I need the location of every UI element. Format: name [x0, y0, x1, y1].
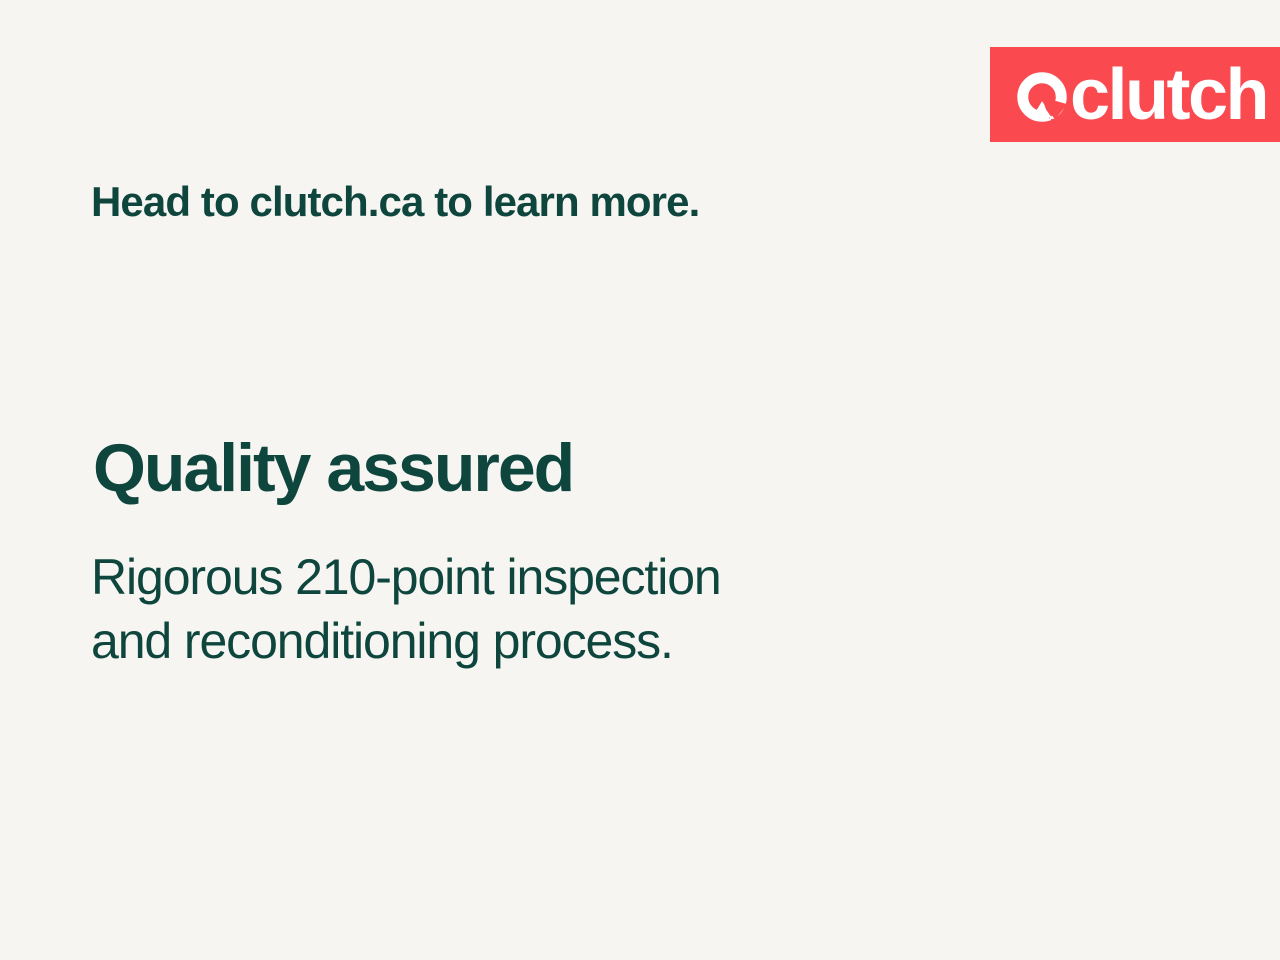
clutch-wordmark: clutch — [1016, 59, 1267, 131]
kicker-text: Head to clutch.ca to learn more. — [91, 178, 699, 227]
subcopy-line-1: Rigorous 210-point inspection — [91, 545, 721, 609]
slide-canvas: clutch Head to clutch.ca to learn more. … — [0, 0, 1280, 960]
clutch-logo-text: clutch — [1070, 59, 1267, 131]
page-headline: Quality assured — [93, 432, 573, 505]
clutch-logo-block[interactable]: clutch — [990, 47, 1280, 142]
subcopy-line-2: and reconditioning process. — [91, 609, 721, 673]
subcopy-text: Rigorous 210-point inspection and recond… — [91, 545, 721, 673]
clutch-wheel-mark-icon — [1016, 71, 1068, 123]
